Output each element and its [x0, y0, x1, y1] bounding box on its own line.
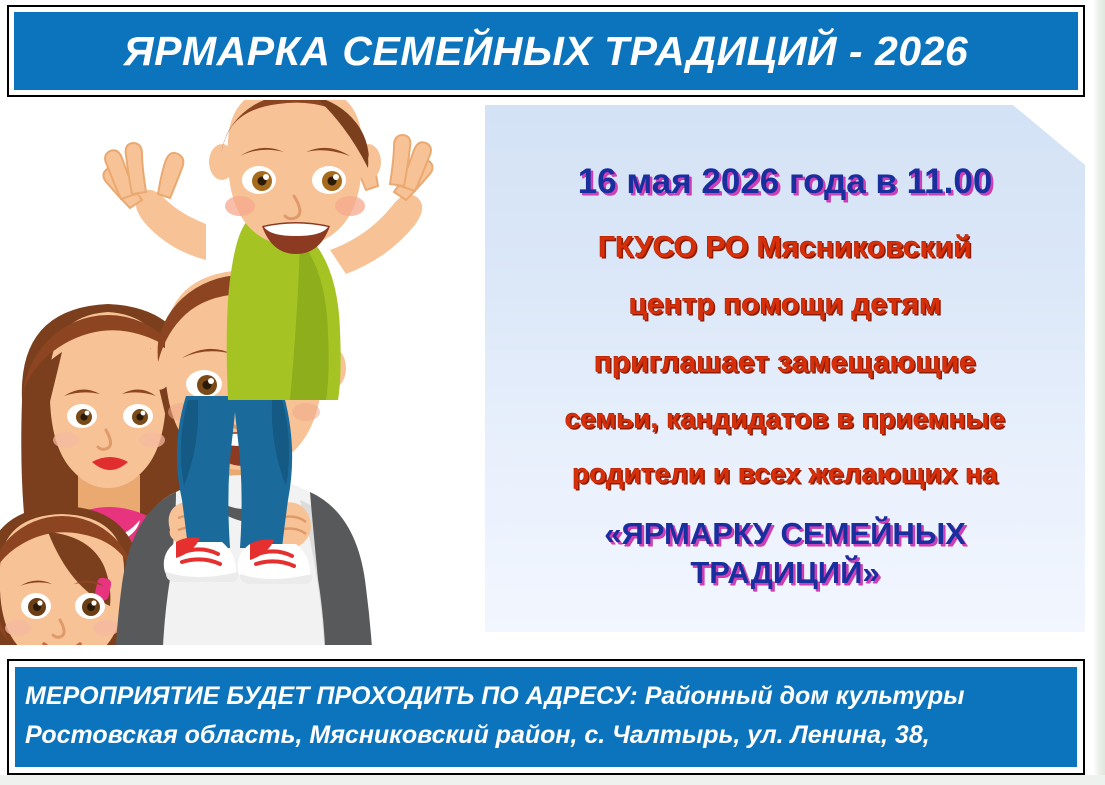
info-panel-content: 16 мая 2026 года в 11.00 ГКУСО РО Мясник… [485, 105, 1085, 592]
address-banner: МЕРОПРИЯТИЕ БУДЕТ ПРОХОДИТЬ ПО АДРЕСУ: Р… [7, 659, 1085, 775]
page-edge-right [1093, 0, 1105, 785]
event-name-line-1: «ЯРМАРКУ СЕМЕЙНЫХ [507, 515, 1063, 554]
organizer-line-1: ГКУСО РО Мясниковский [507, 232, 1063, 264]
invitation-line-3: родители и всех желающих на [507, 459, 1063, 488]
event-name-line-2: ТРАДИЦИЙ» [507, 554, 1063, 593]
title-banner: ЯРМАРКА СЕМЕЙНЫХ ТРАДИЦИЙ - 2026 [7, 5, 1085, 97]
invitation-line-1: приглашает замещающие [507, 347, 1063, 379]
organizer-line-2: центр помощи детям [507, 289, 1063, 321]
invitation-line-2: семьи, кандидатов в приемные [507, 404, 1063, 433]
address-line-1: МЕРОПРИЯТИЕ БУДЕТ ПРОХОДИТЬ ПО АДРЕСУ: Р… [25, 677, 1067, 716]
page-title: ЯРМАРКА СЕМЕЙНЫХ ТРАДИЦИЙ - 2026 [124, 31, 968, 72]
event-datetime: 16 мая 2026 года в 11.00 [507, 163, 1063, 202]
page-edge-bottom [0, 775, 1105, 785]
address-line-2: Ростовская область, Мясниковский район, … [25, 716, 1067, 755]
family-illustration [0, 100, 480, 645]
info-panel: 16 мая 2026 года в 11.00 ГКУСО РО Мясник… [485, 105, 1085, 632]
address-banner-fill: МЕРОПРИЯТИЕ БУДЕТ ПРОХОДИТЬ ПО АДРЕСУ: Р… [15, 667, 1077, 767]
poster-canvas: ЯРМАРКА СЕМЕЙНЫХ ТРАДИЦИЙ - 2026 [0, 0, 1105, 785]
title-banner-fill: ЯРМАРКА СЕМЕЙНЫХ ТРАДИЦИЙ - 2026 [14, 12, 1078, 90]
